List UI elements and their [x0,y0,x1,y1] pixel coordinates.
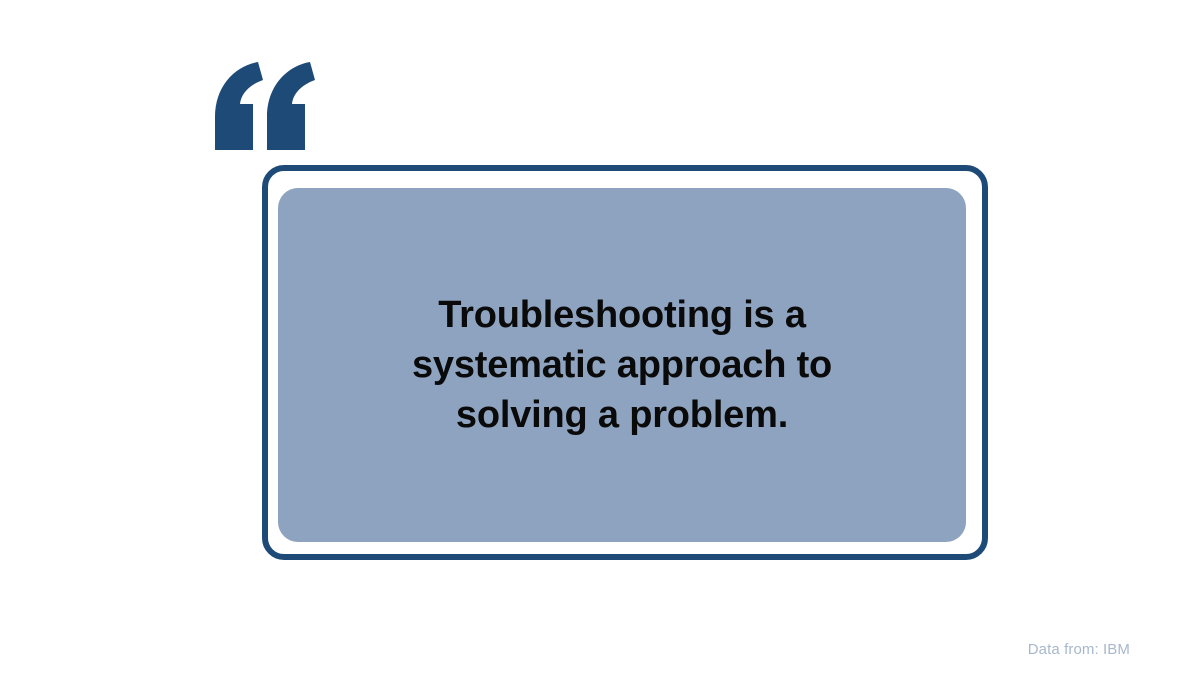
source-attribution: Data from: IBM [1028,641,1130,658]
quote-text: Troubleshooting is a systematic approach… [370,290,875,440]
quote-panel: Troubleshooting is a systematic approach… [278,188,966,542]
quote-slide: Troubleshooting is a systematic approach… [0,0,1200,700]
